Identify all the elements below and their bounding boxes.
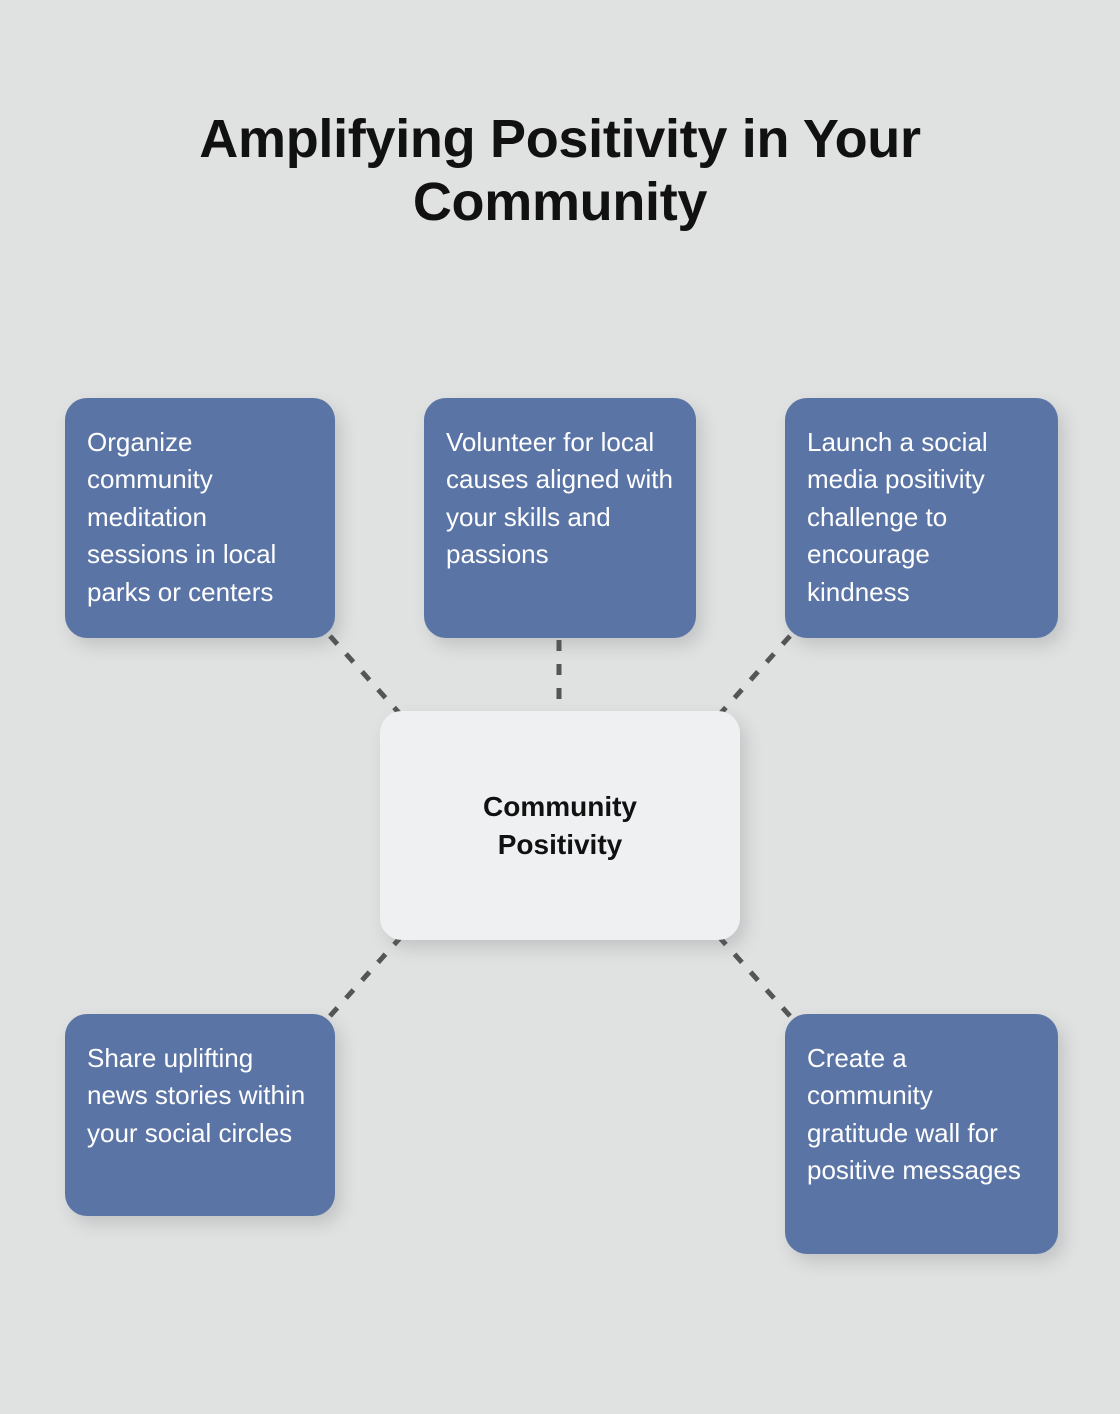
- diagram-node-label: Volunteer for local causes aligned with …: [446, 424, 674, 574]
- diagram-center-label: Community Positivity: [420, 788, 700, 864]
- connector-center-to-node-4: [720, 938, 790, 1016]
- diagram-node-bottom-right[interactable]: Create a community gratitude wall for po…: [785, 1014, 1058, 1254]
- connector-center-to-node-3: [330, 938, 400, 1016]
- connector-center-to-node-2: [720, 636, 790, 714]
- diagram-node-label: Share uplifting news stories within your…: [87, 1040, 313, 1152]
- diagram-node-bottom-left[interactable]: Share uplifting news stories within your…: [65, 1014, 335, 1216]
- diagram-node-top-center[interactable]: Volunteer for local causes aligned with …: [424, 398, 696, 638]
- connector-center-to-node-0: [330, 636, 400, 714]
- diagram-node-top-right[interactable]: Launch a social media positivity challen…: [785, 398, 1058, 638]
- diagram-node-top-left[interactable]: Organize community meditation sessions i…: [65, 398, 335, 638]
- diagram-node-label: Organize community meditation sessions i…: [87, 424, 313, 611]
- diagram-node-label: Create a community gratitude wall for po…: [807, 1040, 1036, 1190]
- diagram-node-label: Launch a social media positivity challen…: [807, 424, 1036, 611]
- diagram-canvas: Amplifying Positivity in Your Community …: [0, 0, 1120, 1414]
- diagram-center-node[interactable]: Community Positivity: [380, 711, 740, 940]
